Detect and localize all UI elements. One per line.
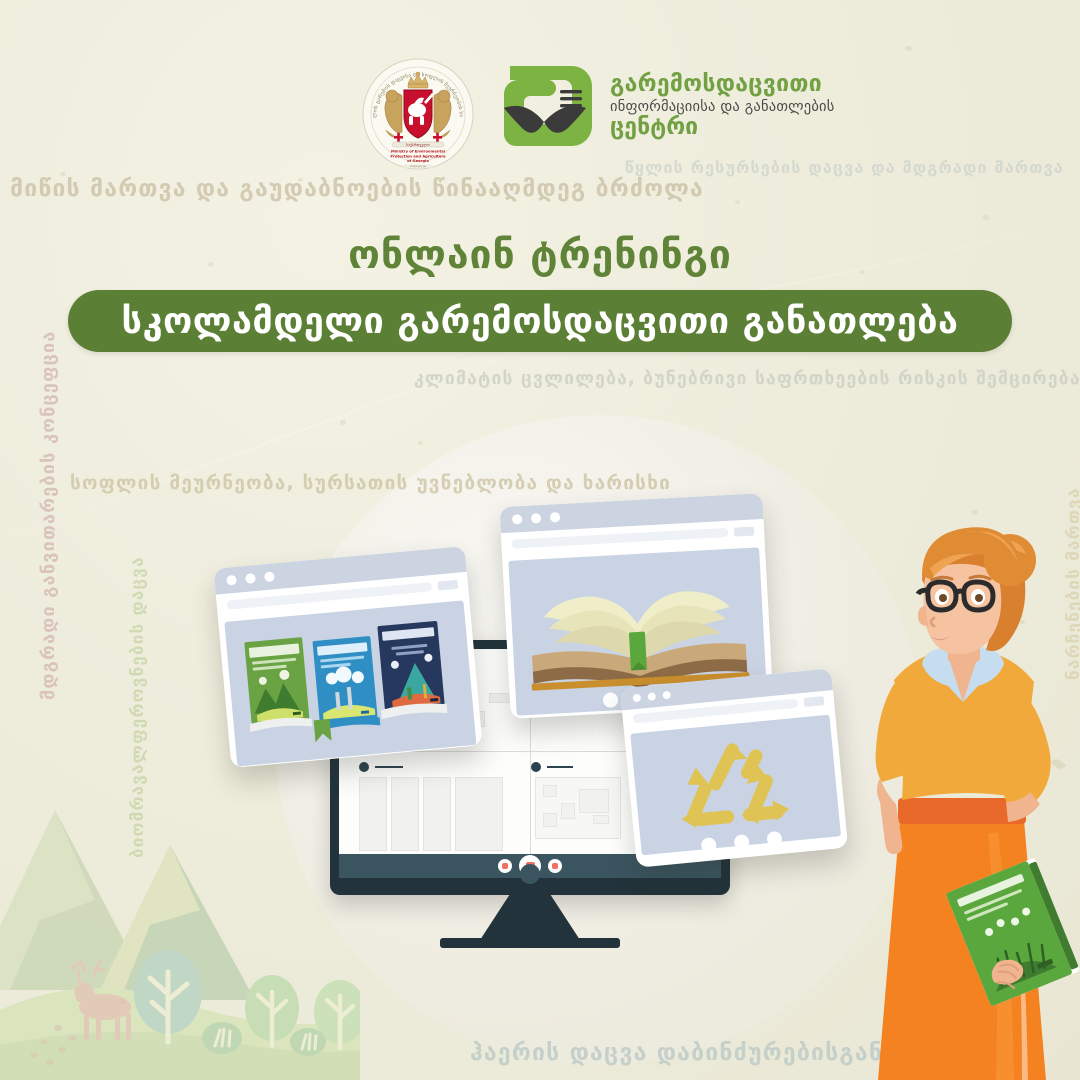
camera-button[interactable]	[548, 859, 562, 873]
participant-dot	[359, 762, 369, 772]
giec-logo-words: გარემოსდაცვითი ინფორმაციისა და განათლები…	[610, 73, 835, 140]
bg-keyword-biodiversity: ბიომრავალფეროვნების დაცვა	[128, 556, 148, 858]
teacher-character	[848, 520, 1080, 1080]
mic-button[interactable]	[498, 859, 512, 873]
card-body-books	[224, 600, 476, 766]
giec-line-2: ინფორმაციისა და განათლების	[610, 100, 835, 115]
url-action-icon[interactable]	[437, 579, 458, 590]
texture-speck	[905, 46, 912, 51]
table-column	[423, 777, 451, 851]
bg-keyword-water: წყლის რესურსების დაცვა და მდგრადი მართვა	[625, 158, 1064, 177]
recycle-card[interactable]	[620, 668, 848, 867]
giec-line-1: გარემოსდაცვითი	[610, 73, 835, 96]
bg-keyword-land: მიწის მართვა და გაუდაბნოების წინააღმდეგ …	[10, 176, 704, 202]
svg-text:mepa.gov.ge: mepa.gov.ge	[410, 165, 427, 168]
svg-text:of Georgia: of Georgia	[407, 159, 429, 163]
texture-speck	[982, 215, 989, 220]
carousel-dot[interactable]	[700, 837, 716, 853]
monitor-stand-knob	[520, 864, 540, 884]
carousel-dot[interactable]	[733, 834, 749, 850]
slide-chart-block	[579, 789, 609, 813]
table-column	[359, 777, 387, 851]
chrome-dot-icon	[264, 571, 275, 582]
chrome-dot-icon	[226, 575, 237, 586]
carousel-dot[interactable]	[603, 692, 619, 708]
svg-text:Protection and Agriculture: Protection and Agriculture	[390, 154, 446, 158]
svg-text:საქართველო: საქართველო	[406, 143, 430, 147]
bg-keyword-air: ჰაერის დაცვა დაბინძურებისგან	[470, 1040, 883, 1066]
chrome-dot-icon	[662, 691, 671, 700]
bg-keyword-agriculture: სოფლის მეურნეობა, სურსათის უვნებლობა და …	[70, 472, 671, 494]
giec-line-3: ცენტრი	[610, 116, 835, 139]
participant-dot	[531, 762, 541, 772]
monitor-foot	[440, 938, 620, 948]
carousel-dot[interactable]	[766, 831, 782, 847]
banner-title: სკოლამდელი გარემოსდაცვითი განათლება	[121, 301, 958, 342]
chrome-dot-icon	[245, 573, 256, 584]
chrome-dot-icon	[531, 513, 542, 524]
texture-speck	[340, 420, 346, 425]
poster-root: საქართველოს გარემოს დაცვისა და სოფლის მე…	[0, 0, 1080, 1080]
chrome-dot-icon	[512, 514, 523, 525]
texture-speck	[735, 200, 740, 204]
header: საქართველოს გარემოს დაცვისა და სოფლის მე…	[0, 52, 1080, 172]
title-banner: სკოლამდელი გარემოსდაცვითი განათლება	[68, 290, 1012, 352]
table-column	[391, 777, 419, 851]
monitor-neck	[480, 894, 580, 940]
svg-text:Ministry of Environmental: Ministry of Environmental	[391, 150, 445, 154]
books-card[interactable]	[213, 546, 482, 768]
kicker-title: ონლაინ ტრენინგი	[0, 233, 1080, 278]
giec-logo-mark	[498, 60, 596, 152]
texture-speck	[972, 510, 978, 515]
bg-keyword-sustainable-development: მდგრადი განვითარების კონცეფცია	[38, 330, 59, 700]
chrome-dot-icon	[647, 692, 656, 701]
forest-scene	[0, 750, 360, 1080]
slide-caption-block	[593, 815, 609, 824]
bg-keyword-climate: კლიმატის ცვლილება, ბუნებრივი საფრთხეების…	[414, 369, 1080, 389]
name-line	[375, 766, 403, 768]
textbook-covers-illustration	[224, 600, 476, 766]
table-column	[455, 777, 503, 851]
name-line	[547, 766, 573, 768]
chrome-dot-icon	[632, 694, 641, 703]
giec-logo: გარემოსდაცვითი ინფორმაციისა და განათლები…	[498, 60, 835, 152]
url-action-icon[interactable]	[804, 696, 825, 707]
slide-text-block	[543, 813, 557, 827]
texture-speck	[418, 441, 423, 445]
slide-text-block	[543, 785, 557, 797]
slide-image-block	[561, 803, 575, 819]
url-action-icon[interactable]	[734, 526, 754, 536]
ministry-emblem: საქართველოს გარემოს დაცვისა და სოფლის მე…	[362, 58, 474, 170]
url-field[interactable]	[511, 527, 728, 548]
chrome-dot-icon	[550, 512, 561, 523]
